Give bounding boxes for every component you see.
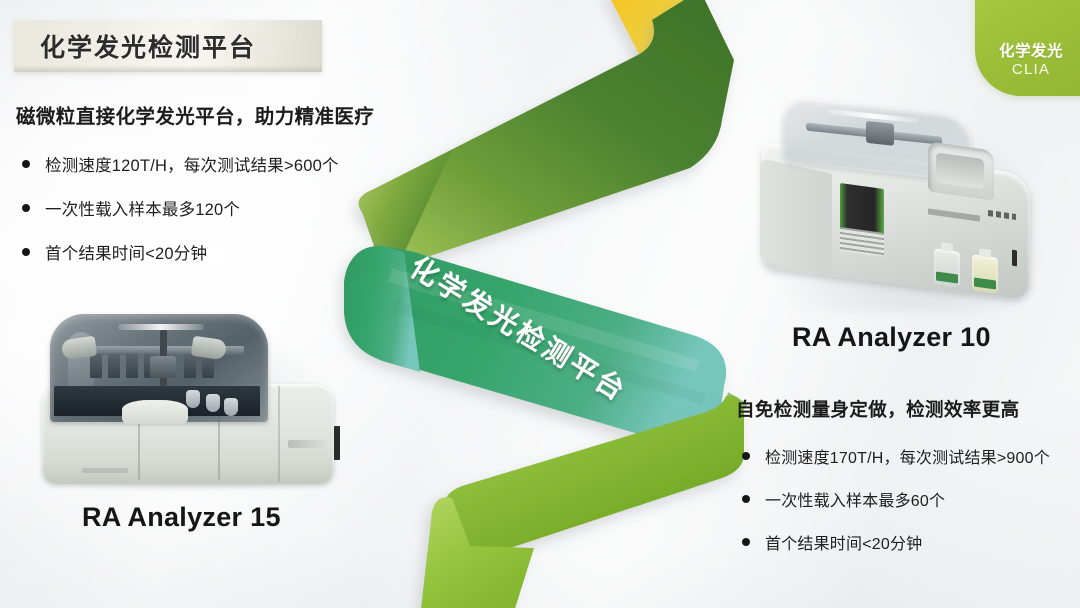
reagent-rack	[184, 354, 196, 378]
list-item-label: 检测速度120T/H，每次测试结果>600个	[45, 152, 339, 176]
left-bullet-list: 检测速度120T/H，每次测试结果>600个 一次性载入样本最多120个 首个结…	[16, 152, 416, 264]
sample-vial	[206, 394, 220, 412]
bottle-label	[974, 277, 996, 289]
list-item-label: 首个结果时间<20分钟	[45, 240, 207, 264]
list-item-label: 一次性载入样本最多120个	[45, 196, 240, 220]
clia-badge: 化学发光 CLIA	[975, 0, 1080, 96]
left-content-panel: 磁微粒直接化学发光平台，助力精准医疗 检测速度120T/H，每次测试结果>600…	[16, 100, 416, 284]
bullet-dot-icon	[22, 204, 30, 212]
indicator-strip	[1012, 250, 1017, 267]
bottle-label	[936, 271, 958, 283]
clia-badge-cn-label: 化学发光	[999, 43, 1063, 61]
caption-ra-analyzer-15: RA Analyzer 15	[82, 502, 281, 533]
bullet-dot-icon	[742, 452, 750, 460]
list-item: 首个结果时间<20分钟	[736, 530, 1080, 554]
pipette-head	[866, 121, 894, 146]
list-item: 检测速度120T/H，每次测试结果>600个	[16, 152, 416, 176]
sample-tray	[122, 400, 188, 424]
left-subhead: 磁微粒直接化学发光平台，助力精准医疗	[16, 100, 416, 129]
reagent-bottle-right	[972, 254, 998, 294]
product-image-ra-analyzer-10	[752, 100, 1044, 312]
ribbon-label: 化学发光检测平台	[403, 246, 635, 410]
indicator-strip	[334, 426, 340, 460]
bullet-dot-icon	[742, 495, 750, 503]
product-image-ra-analyzer-15	[34, 312, 344, 492]
reagent-rack	[90, 354, 102, 378]
bottle-cap	[941, 242, 953, 252]
bullet-dot-icon	[742, 538, 750, 546]
list-item: 首个结果时间<20分钟	[16, 240, 416, 264]
page-title: 化学发光检测平台	[14, 28, 256, 64]
reagent-rack	[126, 354, 138, 378]
list-item-label: 首个结果时间<20分钟	[765, 530, 922, 554]
bullet-dot-icon	[22, 248, 30, 256]
slide-canvas: 化学发光检测平台 化学发光 CLIA 化学发光检测平台 磁微粒直接化学发光平台，…	[0, 0, 1080, 608]
reagent-bottle-left	[934, 248, 960, 288]
bullet-dot-icon	[22, 160, 30, 168]
bay-opening	[936, 152, 984, 189]
list-item: 一次性载入样本最多120个	[16, 196, 416, 220]
panel-seam	[278, 386, 280, 482]
right-bullet-list: 检测速度170T/H，每次测试结果>900个 一次性载入样本最多60个 首个结果…	[736, 444, 1080, 554]
list-item-label: 一次性载入样本最多60个	[765, 487, 945, 511]
pipette-head	[150, 356, 176, 378]
analyzer-10-left-face	[760, 158, 832, 275]
caption-ra-analyzer-10: RA Analyzer 10	[792, 322, 991, 353]
list-item: 检测速度170T/H，每次测试结果>900个	[736, 444, 1080, 468]
reagent-rack	[108, 354, 120, 378]
sample-vial	[186, 390, 200, 408]
front-panel-strip	[288, 440, 330, 448]
right-content-panel: 自免检测量身定做，检测效率更高 检测速度170T/H，每次测试结果>900个 一…	[736, 396, 1080, 573]
product-label-plate	[82, 468, 128, 473]
bottle-cap	[979, 248, 991, 258]
clia-badge-en-label: CLIA	[1012, 61, 1050, 80]
sample-vial	[224, 398, 238, 416]
list-item: 一次性载入样本最多60个	[736, 487, 1080, 511]
sample-loading-bay	[928, 141, 994, 200]
right-subhead: 自免检测量身定做，检测效率更高	[736, 396, 1080, 422]
list-item-label: 检测速度170T/H，每次测试结果>900个	[765, 444, 1050, 468]
title-banner: 化学发光检测平台	[14, 20, 322, 72]
